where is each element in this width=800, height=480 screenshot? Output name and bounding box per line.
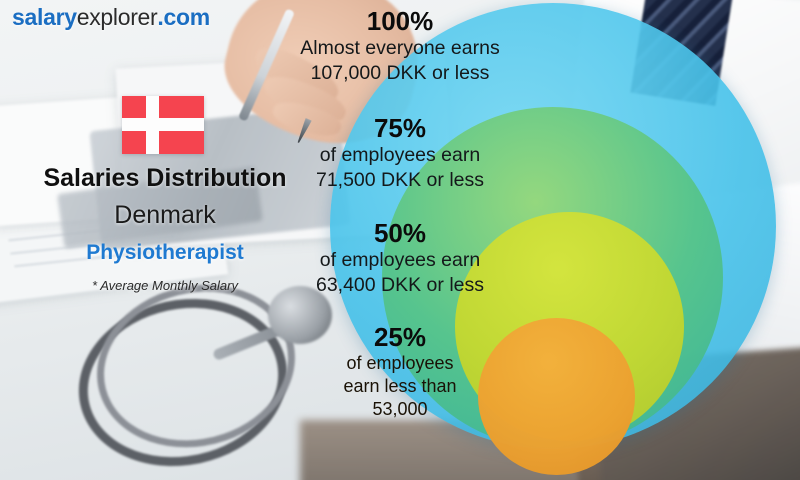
percentile-desc-25-line3: 53,000 <box>0 398 800 421</box>
percentile-desc-75-line1: of employees earn <box>0 143 800 168</box>
percentile-value-50: 50% <box>0 219 800 248</box>
percentile-label-100: 100% Almost everyone earns 107,000 DKK o… <box>0 7 800 85</box>
percentile-desc-50-line1: of employees earn <box>0 248 800 273</box>
percentile-desc-25-line1: of employees <box>0 352 800 375</box>
percentile-value-25: 25% <box>0 323 800 352</box>
percentile-label-25: 25% of employees earn less than 53,000 <box>0 323 800 421</box>
percentile-value-100: 100% <box>0 7 800 36</box>
percentile-value-75: 75% <box>0 114 800 143</box>
percentile-desc-25-line2: earn less than <box>0 375 800 398</box>
percentile-desc-100-line1: Almost everyone earns <box>0 36 800 61</box>
percentile-desc-50-line2: 63,400 DKK or less <box>0 273 800 298</box>
percentile-desc-75-line2: 71,500 DKK or less <box>0 168 800 193</box>
percentile-desc-100-line2: 107,000 DKK or less <box>0 61 800 86</box>
infographic-canvas: salaryexplorer.com Salaries Distribution… <box>0 0 800 480</box>
percentile-label-75: 75% of employees earn 71,500 DKK or less <box>0 114 800 192</box>
percentile-label-50: 50% of employees earn 63,400 DKK or less <box>0 219 800 297</box>
